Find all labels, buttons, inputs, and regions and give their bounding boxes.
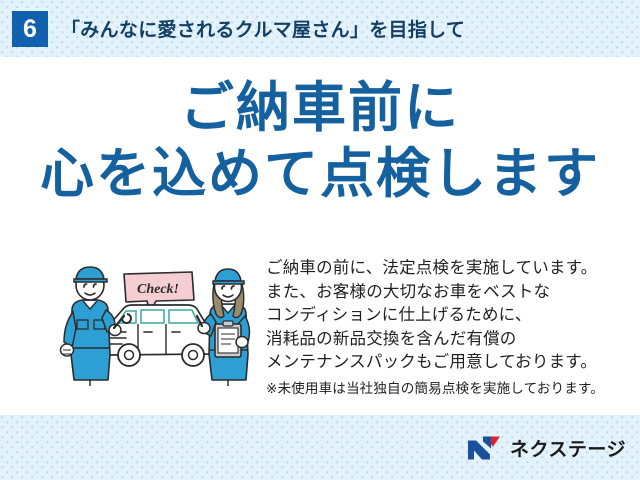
body-copy-line-2: また、お客様の大切なお車をベストな — [266, 281, 630, 305]
white-van — [106, 305, 211, 366]
body-copy-line-3: コンディションに仕上げるために、 — [266, 304, 630, 328]
header-inner: 6 「みんなに愛されるクルマ屋さん」を目指して — [0, 0, 640, 57]
body-copy-note: ※未使用車は当社独自の簡易点検を実施しております。 — [266, 378, 630, 400]
headline-line-1: ご納車前に — [0, 79, 640, 137]
mechanics-illustration: Check! — [52, 262, 262, 387]
body-copy: ご納車の前に、法定点検を実施しています。 また、お客様の大切なお車をベストな コ… — [266, 257, 630, 400]
page-header: 6 「みんなに愛されるクルマ屋さん」を目指して — [0, 0, 640, 57]
main-content: ご納車前に 心を込めて点検します Check! — [0, 57, 640, 415]
body-copy-line-5: メンテナンスパックもご用意しております。 — [266, 351, 630, 375]
male-mechanic — [61, 267, 131, 386]
body-copy-line-1: ご納車の前に、法定点検を実施しています。 — [266, 257, 630, 281]
page-footer: ネクステージ — [0, 415, 640, 480]
nextage-n-mark — [467, 435, 503, 460]
body-copy-line-4: 消耗品の新品交換を含んだ有償の — [266, 328, 630, 352]
nextage-logo: ネクステージ — [467, 434, 626, 461]
header-title: 「みんなに愛されるクルマ屋さん」を目指して — [61, 15, 465, 42]
step-number-badge: 6 — [12, 11, 48, 47]
svg-text:Check!: Check! — [137, 282, 179, 297]
headline-line-2: 心を込めて点検します — [0, 145, 640, 203]
nextage-logo-text: ネクステージ — [510, 434, 626, 461]
advertisement-page: 6 「みんなに愛されるクルマ屋さん」を目指して ご納車前に 心を込めて点検します… — [0, 0, 640, 480]
headline: ご納車前に 心を込めて点検します — [0, 79, 640, 204]
female-mechanic — [197, 269, 249, 386]
